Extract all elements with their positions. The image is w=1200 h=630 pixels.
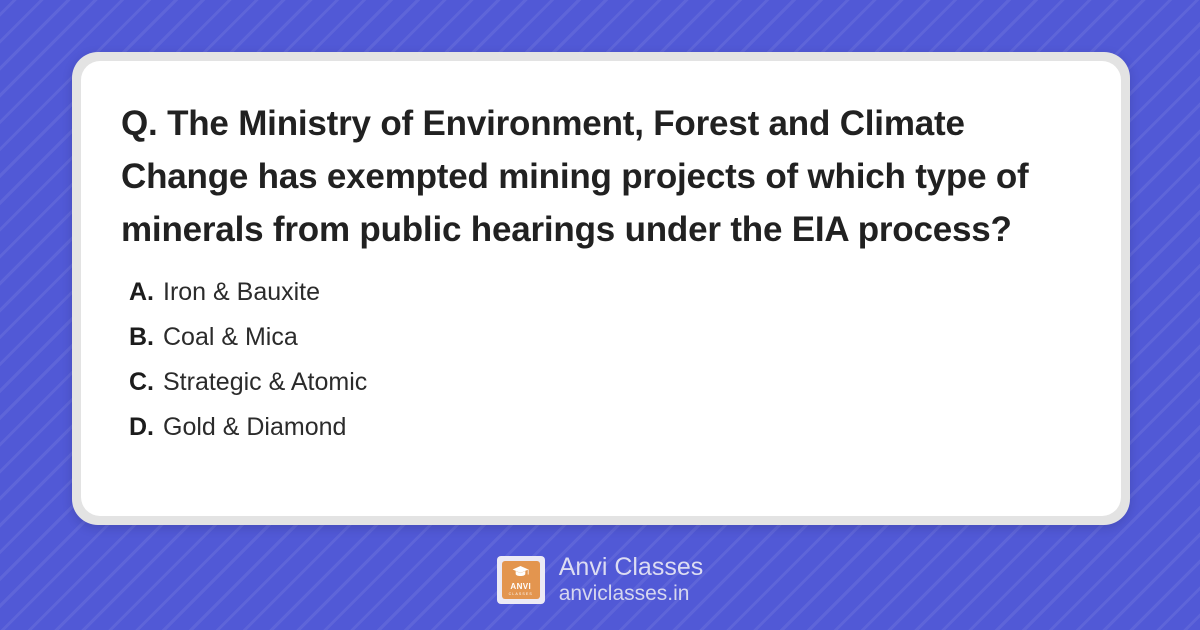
option-label: Iron & Bauxite <box>163 278 320 307</box>
option-label: Gold & Diamond <box>163 413 346 442</box>
brand-name: Anvi Classes <box>559 554 704 581</box>
option-letter: C. <box>129 368 163 397</box>
option-row[interactable]: C. Strategic & Atomic <box>129 368 1081 413</box>
option-label: Strategic & Atomic <box>163 368 367 397</box>
brand-site[interactable]: anviclasses.in <box>559 583 704 606</box>
brand-logo-name: ANVI <box>510 583 531 591</box>
option-row[interactable]: A. Iron & Bauxite <box>129 278 1081 323</box>
brand-logo-tile: ANVI CLASSES <box>497 556 545 604</box>
quiz-slide: Q. The Ministry of Environment, Forest a… <box>0 0 1200 630</box>
options-list: A. Iron & Bauxite B. Coal & Mica C. Stra… <box>129 278 1081 458</box>
graduation-cap-icon <box>512 565 529 581</box>
option-row[interactable]: B. Coal & Mica <box>129 323 1081 368</box>
option-label: Coal & Mica <box>163 323 298 352</box>
question-card-body: Q. The Ministry of Environment, Forest a… <box>81 61 1121 516</box>
brand-text-block: Anvi Classes anviclasses.in <box>559 554 704 606</box>
option-row[interactable]: D. Gold & Diamond <box>129 413 1081 458</box>
option-letter: B. <box>129 323 163 352</box>
brand-footer: ANVI CLASSES Anvi Classes anviclasses.in <box>0 545 1200 615</box>
question-card: Q. The Ministry of Environment, Forest a… <box>72 52 1130 525</box>
brand-logo-mark: ANVI CLASSES <box>502 561 540 599</box>
brand-logo-sub: CLASSES <box>509 593 533 597</box>
option-letter: D. <box>129 413 163 442</box>
question-text: Q. The Ministry of Environment, Forest a… <box>121 97 1071 256</box>
option-letter: A. <box>129 278 163 307</box>
